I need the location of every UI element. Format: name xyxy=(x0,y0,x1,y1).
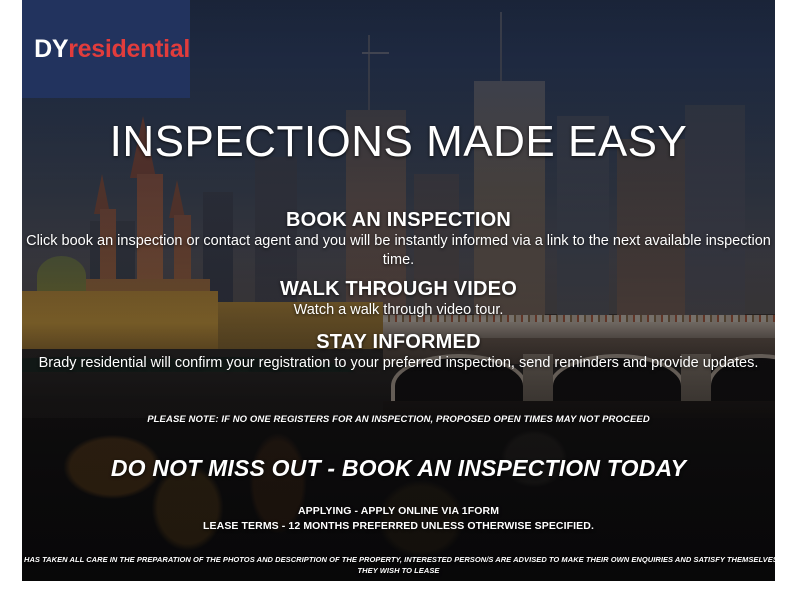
call-to-action-text: DO NOT MISS OUT - BOOK AN INSPECTION TOD… xyxy=(22,455,775,482)
please-note-text: PLEASE NOTE: IF NO ONE REGISTERS FOR AN … xyxy=(22,414,775,425)
section-stay-informed: STAY INFORMED Brady residential will con… xyxy=(22,331,775,373)
section-title: STAY INFORMED xyxy=(22,331,775,354)
applying-line: APPLYING - APPLY ONLINE VIA 1FORM xyxy=(22,504,775,519)
section-body: Click book an inspection or contact agen… xyxy=(22,232,775,269)
section-title: BOOK AN INSPECTION xyxy=(22,209,775,232)
lease-terms-line: LEASE TERMS - 12 MONTHS PREFERRED UNLESS… xyxy=(22,519,775,534)
page-title: INSPECTIONS MADE EASY xyxy=(22,117,775,167)
section-book-an-inspection: BOOK AN INSPECTION Click book an inspect… xyxy=(22,209,775,269)
legal-disclaimer: TY LTD HAS TAKEN ALL CARE IN THE PREPARA… xyxy=(22,554,775,577)
section-body: Brady residential will confirm your regi… xyxy=(22,354,775,373)
section-title: WALK THROUGH VIDEO xyxy=(22,278,775,301)
terms-text: APPLYING - APPLY ONLINE VIA 1FORM LEASE … xyxy=(22,504,775,534)
inspection-banner-image: DYresidential INSPECTIONS MADE EASY BOOK… xyxy=(22,0,775,581)
section-body: Watch a walk through video tour. xyxy=(22,301,775,320)
disclaimer-line-1: TY LTD HAS TAKEN ALL CARE IN THE PREPARA… xyxy=(22,554,775,565)
disclaimer-line-2: THEY WISH TO LEASE xyxy=(22,565,775,576)
section-walk-through-video: WALK THROUGH VIDEO Watch a walk through … xyxy=(22,278,775,320)
banner-copy: INSPECTIONS MADE EASY BOOK AN INSPECTION… xyxy=(22,0,775,581)
page-root: DYresidential INSPECTIONS MADE EASY BOOK… xyxy=(0,0,800,600)
